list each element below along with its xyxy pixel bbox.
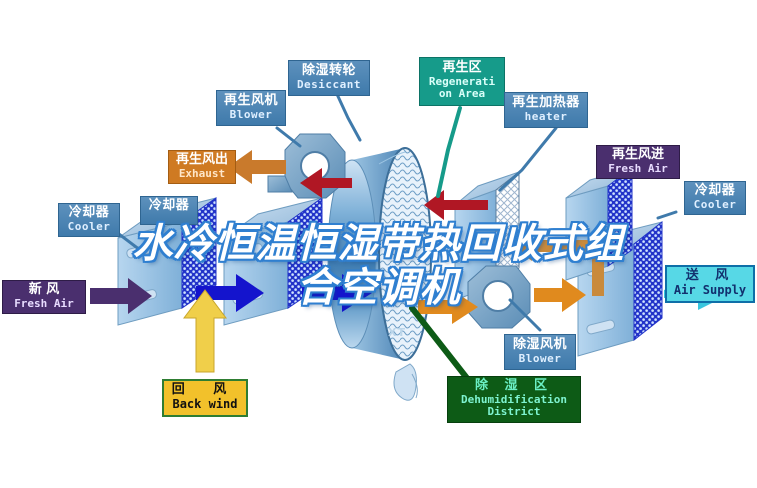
label-cooler-left-en: Cooler (61, 221, 117, 233)
equipment-illustration (0, 0, 757, 488)
label-regen-fresh-air-en: Fresh Air (599, 163, 677, 175)
label-regeneration-cn: 再生区 (422, 61, 502, 76)
diagram-canvas: XT 除湿转轮 Desiccant 再生风机 Blower 再生区 Regene… (0, 0, 757, 488)
label-cooler-mid-cn: 冷却器 (143, 199, 195, 214)
label-back-wind: 回 风 Back wind (162, 379, 248, 417)
label-cooler-right-en: Cooler (687, 199, 743, 211)
label-dehumidification-district: 除 湿 区 Dehumidification District (447, 376, 581, 423)
label-cooler-left-cn: 冷却器 (61, 206, 117, 221)
label-regen-blower: 再生风机 Blower (216, 90, 286, 126)
label-exhaust-cn: 再生风出 (171, 153, 233, 168)
label-regen-heater: 再生加热器 heater (504, 92, 588, 128)
dehumidification-blower (468, 266, 530, 328)
label-regeneration-en1: Regenerati (422, 76, 502, 88)
label-back-wind-cn: 回 风 (166, 383, 244, 398)
label-dehumid-blower-en: Blower (507, 353, 573, 365)
label-fresh-air-cn: 新 风 (5, 283, 83, 298)
label-dehumid-district-en1: Dehumidification (450, 394, 578, 406)
label-back-wind-en: Back wind (166, 398, 244, 411)
label-cooler-right: 冷却器 Cooler (684, 181, 746, 215)
label-regeneration-area: 再生区 Regenerati on Area (419, 57, 505, 106)
label-air-supply-cn: 送 风 (669, 269, 751, 284)
label-desiccant-en: Desiccant (291, 79, 367, 91)
label-regeneration-en2: on Area (422, 88, 502, 100)
label-regen-blower-cn: 再生风机 (219, 94, 283, 109)
label-cooler-left: 冷却器 Cooler (58, 203, 120, 237)
label-regen-fresh-air: 再生风进 Fresh Air (596, 145, 680, 179)
label-exhaust-en: Exhaust (171, 168, 233, 180)
label-regen-blower-en: Blower (219, 109, 283, 121)
label-dehumid-district-cn: 除 湿 区 (450, 379, 578, 394)
label-regen-heater-en: heater (507, 111, 585, 123)
label-exhaust: 再生风出 Exhaust (168, 150, 236, 184)
label-dehumid-district-en2: District (450, 406, 578, 418)
label-cooler-right-cn: 冷却器 (687, 184, 743, 199)
label-fresh-air: 新 风 Fresh Air (2, 280, 86, 314)
label-dehumid-blower: 除湿风机 Blower (504, 334, 576, 370)
label-desiccant-cn: 除湿转轮 (291, 64, 367, 79)
label-dehumid-blower-cn: 除湿风机 (507, 338, 573, 353)
label-desiccant: 除湿转轮 Desiccant (288, 60, 370, 96)
label-cooler-mid: 冷却器 (140, 196, 198, 225)
label-air-supply: 送 风 Air Supply (665, 265, 755, 303)
label-fresh-air-en: Fresh Air (5, 298, 83, 310)
label-regen-fresh-air-cn: 再生风进 (599, 148, 677, 163)
watermark: XT (388, 326, 406, 339)
label-regen-heater-cn: 再生加热器 (507, 96, 585, 111)
label-air-supply-en: Air Supply (669, 284, 751, 297)
